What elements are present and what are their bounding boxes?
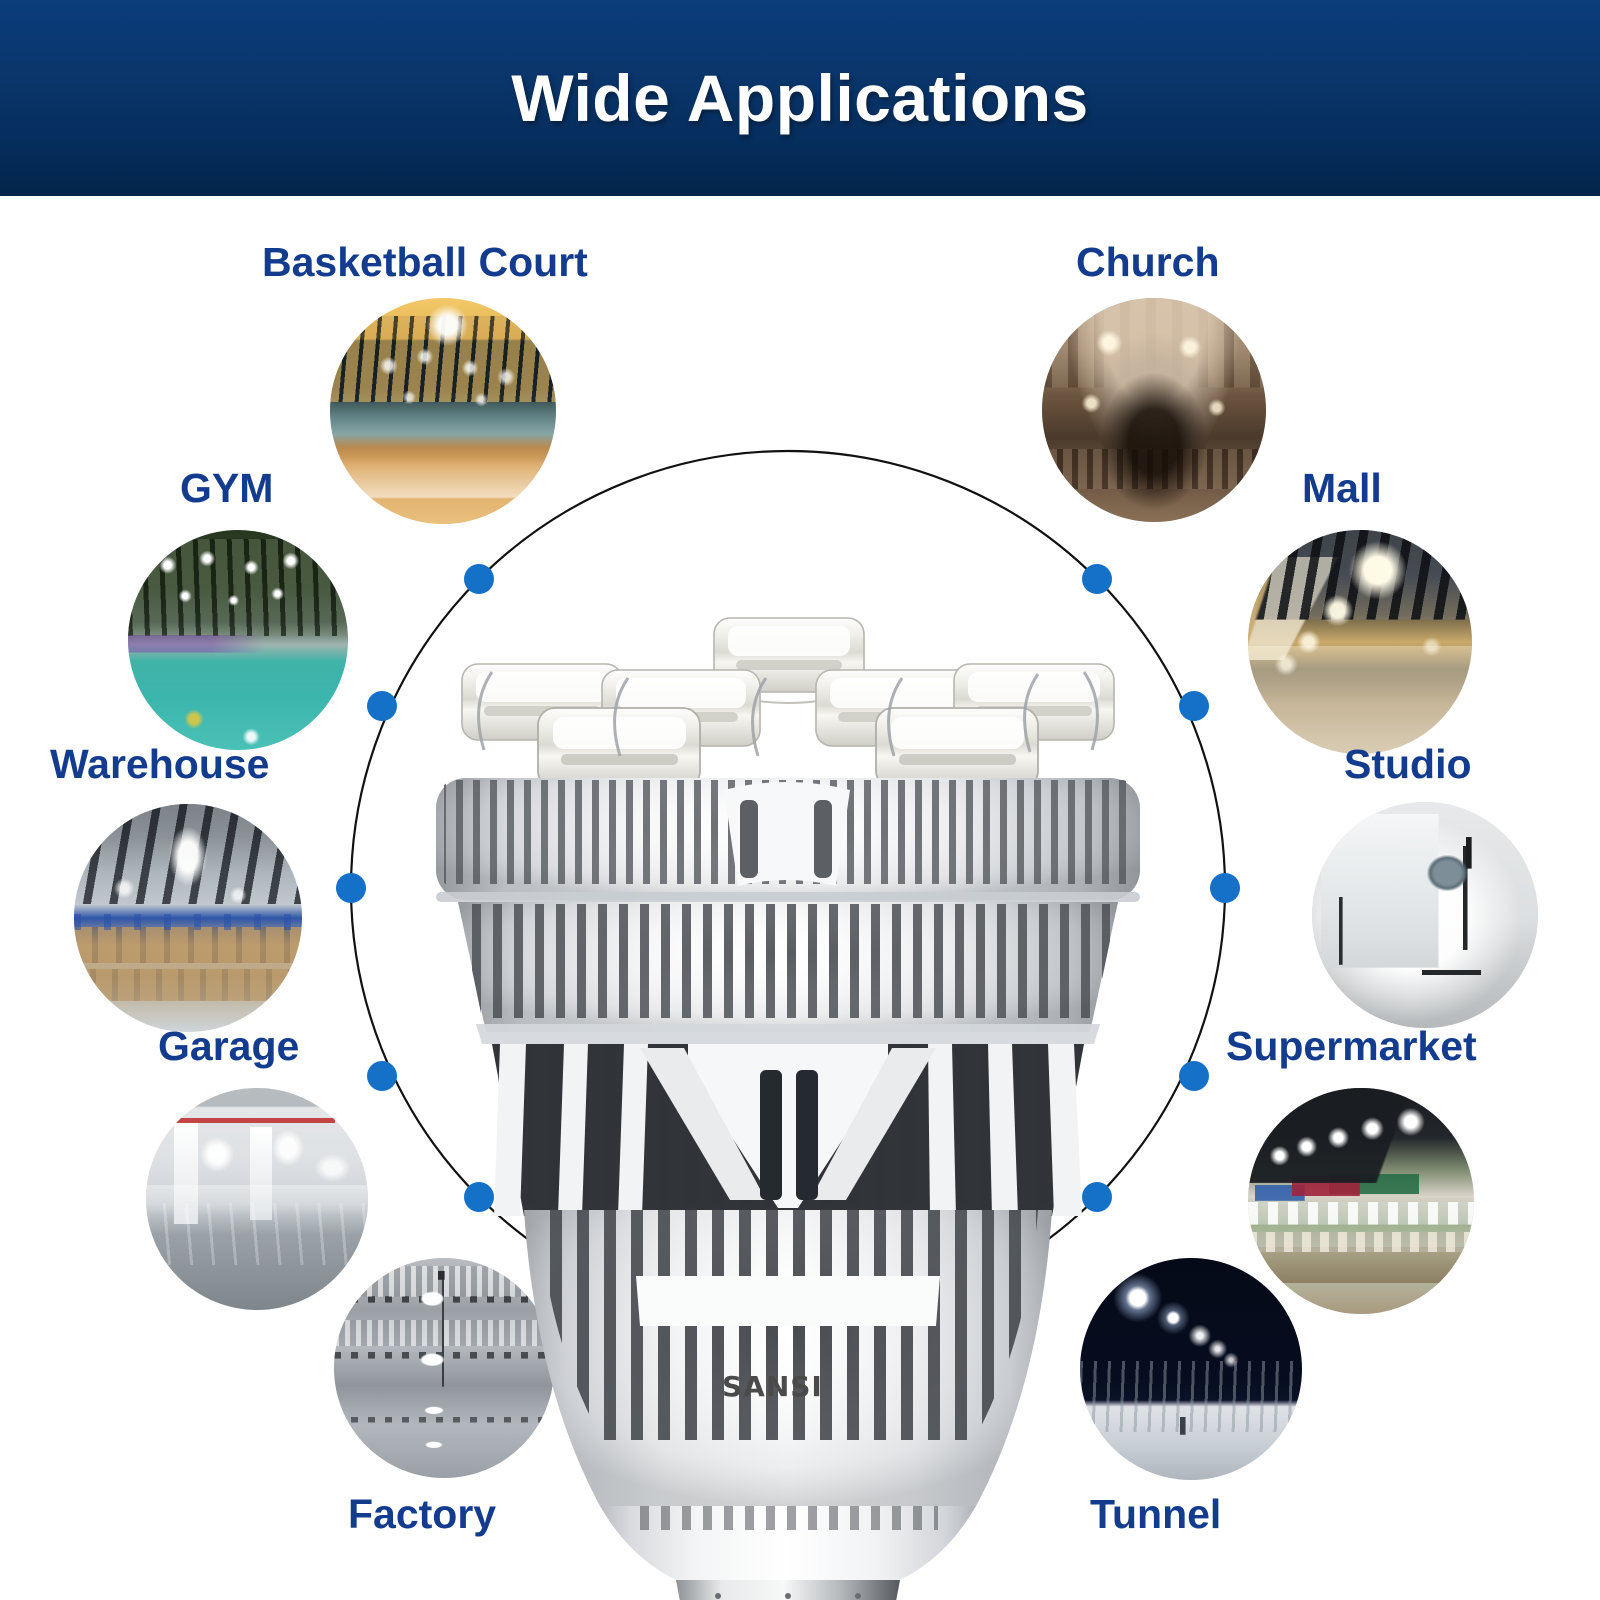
gym-thumbnail — [128, 530, 348, 750]
church-thumbnail — [1042, 298, 1266, 522]
application-label-supermarket: Supermarket — [1226, 1026, 1477, 1067]
application-label-gym: GYM — [180, 468, 273, 509]
product-image-led-bulb: SANSI — [388, 600, 1188, 1600]
applications-diagram: Basketball Court GYM Warehouse Garage Fa… — [0, 196, 1600, 1600]
connector-dot-northwest — [464, 564, 494, 594]
application-label-church: Church — [1076, 242, 1220, 283]
page-title: Wide Applications — [511, 65, 1089, 131]
brand-wordmark-sansi: SANSI — [722, 1370, 823, 1403]
upper-heatsink-ring — [436, 778, 1140, 902]
application-label-mall: Mall — [1302, 468, 1382, 509]
application-label-basketball-court: Basketball Court — [262, 242, 588, 283]
application-label-studio: Studio — [1344, 744, 1472, 785]
studio-thumbnail — [1312, 802, 1538, 1028]
basketball-court-thumbnail — [330, 298, 556, 524]
connector-dot-northeast — [1082, 564, 1112, 594]
mall-thumbnail — [1248, 530, 1472, 754]
reflector-cage — [492, 1044, 1084, 1216]
warehouse-thumbnail — [74, 804, 302, 1032]
header-banner: Wide Applications — [0, 0, 1600, 196]
mid-heatsink-ring — [458, 902, 1118, 1044]
application-label-warehouse: Warehouse — [50, 744, 269, 785]
connector-dot-east — [1210, 873, 1240, 903]
screw-base-e26 — [676, 1580, 900, 1600]
application-label-garage: Garage — [158, 1026, 299, 1067]
led-lens-array — [462, 618, 1114, 788]
connector-dot-west — [336, 873, 366, 903]
